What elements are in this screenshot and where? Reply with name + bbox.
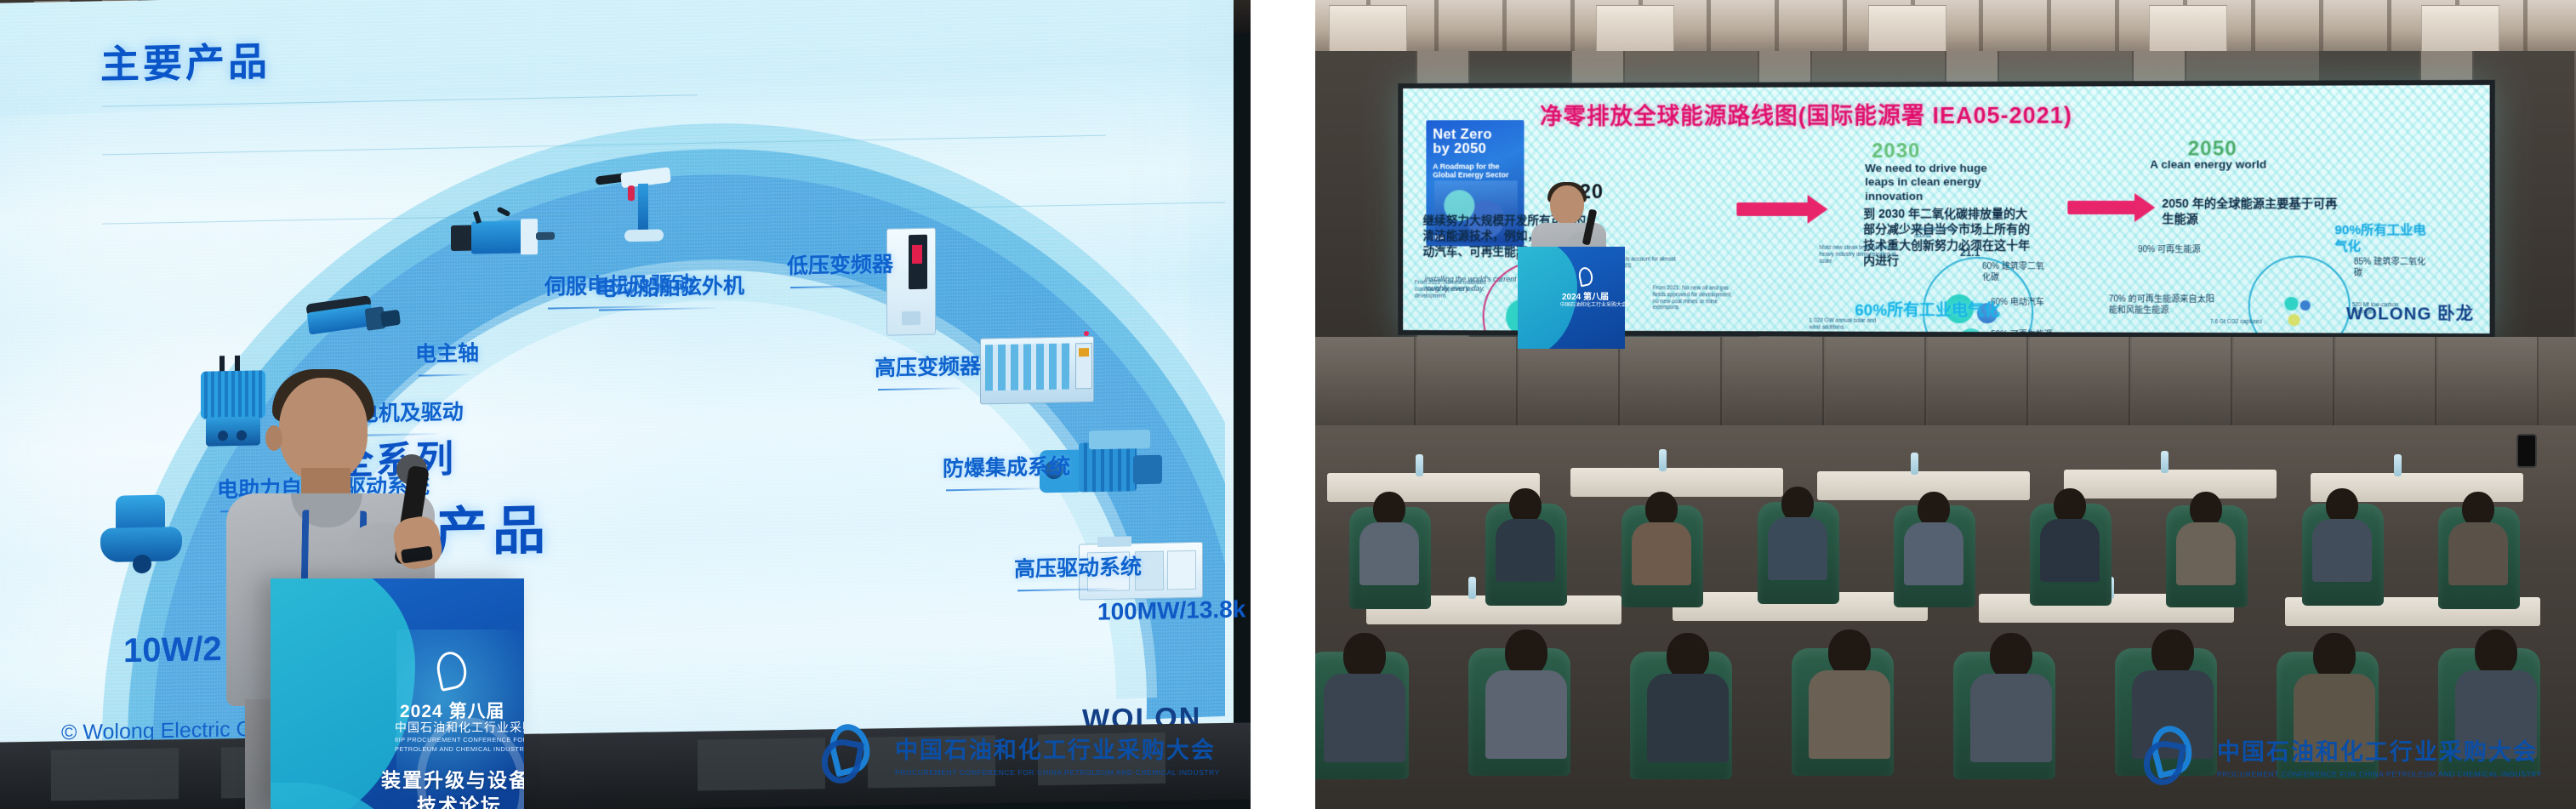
hv-inverter-image xyxy=(980,329,1111,410)
product-label-spindle: 电主轴 xyxy=(415,336,479,367)
annotation-76gt-captured: 7.6 Gt CO2 captured xyxy=(2210,319,2284,326)
cover-title-line-2: by 2050 xyxy=(1433,140,1486,157)
slide-title: 主要产品 xyxy=(100,31,271,90)
product-label-hv-drive: 高压驱动系统 xyxy=(1014,550,1142,584)
chinese-text-2050: 2050 年的全球能源主要基于可再生能源 xyxy=(2162,196,2339,227)
podium-right: 2024 第八届 中国石油和化工行业采购大会 xyxy=(1518,247,1625,349)
watermark-title-cn: 中国石油和化工行业采购大会 xyxy=(895,732,1220,765)
conference-mark-right-icon xyxy=(2140,724,2203,787)
podium-right-conference-cn: 中国石油和化工行业采购大会 xyxy=(1560,300,1625,308)
conference-logo-right-icon xyxy=(1577,266,1594,288)
watermark-right-title-en: PROCUREMENT CONFERENCE FOR CHINA PETROLE… xyxy=(2217,770,2542,778)
english-text-2030: We need to drive huge leaps in clean ene… xyxy=(1865,162,2018,204)
arrow-2020-to-2030-icon xyxy=(1736,202,1809,216)
servo-motor-image xyxy=(451,217,543,261)
speaker-right-head xyxy=(1550,185,1584,225)
annotation-coal-plants: From 2021: No new unabated coal plants a… xyxy=(1415,280,1486,299)
cover-title-line-1: Net Zero xyxy=(1433,126,1492,142)
callout-60-buildings: 60% 建筑零二氧化碳 xyxy=(1982,262,2050,283)
watermark-left: 中国石油和化工行业采购大会 PROCUREMENT CONFERENCE FOR… xyxy=(818,722,1220,785)
slide-title-right: 净零排放全球能源路线图(国际能源署 IEA05-2021) xyxy=(1540,97,2072,131)
marine-outboard-image xyxy=(596,169,677,248)
panel-divider xyxy=(1251,0,1315,809)
annotation-no-new-oil-gas: From 2021: No new oil and gas fields app… xyxy=(1653,285,1735,311)
callout-85-buildings: 85% 建筑零二氧化碳 xyxy=(2354,258,2429,279)
cover-subtitle: A Roadmap for the Global Energy Sector xyxy=(1433,162,1518,180)
wolong-brand-right: WOLONG 卧龙 xyxy=(2346,299,2474,325)
callout-70-solar-wind: 70% 的可再生能源来自太阳能和风能生能源 xyxy=(2109,294,2215,316)
spec-right: 100MW/13.8k xyxy=(1097,595,1245,625)
annotation-clean-tech-heavy-industry: Most new clean technologies in heavy ind… xyxy=(1820,245,1898,265)
audience-phone-icon xyxy=(2516,434,2537,468)
spec-left: 10W/2 xyxy=(123,630,222,670)
callout-90-renewable: 90% 可再生能源 xyxy=(2138,245,2232,256)
conference-mark-icon xyxy=(818,722,881,785)
speaker-head xyxy=(279,378,368,481)
year-2030: 2030 xyxy=(1872,140,1920,163)
english-text-2050: A clean energy world xyxy=(2150,157,2339,172)
co2-value-2030: 21.1 xyxy=(1960,247,1980,259)
watermark-right: 中国石油和化工行业采购大会 PROCUREMENT CONFERENCE FOR… xyxy=(2140,724,2542,787)
product-label-hv-inverter: 高压变频器 xyxy=(875,350,981,382)
product-label-marine: 电动船舶弦外机 xyxy=(596,269,744,302)
left-photo-panel: 主要产品 xyxy=(0,0,1251,809)
arrow-2030-to-2050-icon xyxy=(2067,201,2136,214)
watermark-right-title-cn: 中国石油和化工行业采购大会 xyxy=(2217,733,2542,766)
photo-composite: 主要产品 xyxy=(0,0,2576,809)
lv-inverter-image xyxy=(886,227,943,337)
ebike-drive-image xyxy=(100,494,189,578)
callout-90-industry-electrified: 90%所有工业电气化 xyxy=(2334,223,2439,255)
annotation-universal-access: Universal energy access xyxy=(1914,226,1974,240)
product-label-lv-inverter: 低压变频器 xyxy=(787,248,893,280)
product-label-explosion-proof: 防爆集成系统 xyxy=(943,450,1070,483)
callout-60-industry-electrified: 60%所有工业电气化 xyxy=(1855,298,2000,321)
right-photo-panel: 净零排放全球能源路线图(国际能源署 IEA05-2021) Net Zero b… xyxy=(1315,0,2576,809)
electric-spindle-image xyxy=(305,295,405,338)
speaker-ear xyxy=(265,425,282,451)
podium-left: 2024 第八届 中国石油和化工行业采购大会 8IP PROCUREMENT C… xyxy=(271,578,524,809)
watermark-title-en: PROCUREMENT CONFERENCE FOR CHINA PETROLE… xyxy=(895,768,1220,777)
